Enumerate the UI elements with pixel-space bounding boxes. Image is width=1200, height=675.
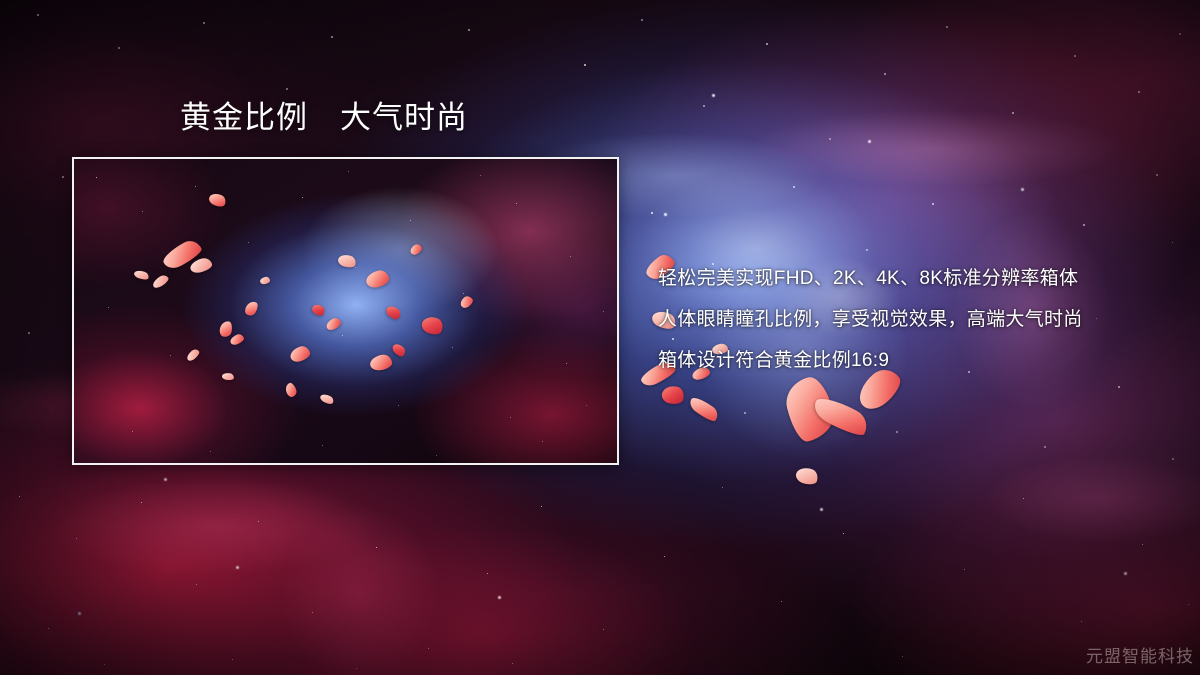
- petal: [409, 243, 424, 257]
- petal: [325, 316, 343, 332]
- petal: [310, 302, 326, 318]
- petal: [259, 276, 270, 285]
- petal: [133, 269, 150, 281]
- petal: [391, 341, 408, 358]
- petal: [337, 253, 358, 269]
- starfield-fine: [0, 0, 1, 1]
- body-text: 轻松完美实现FHD、2K、4K、8K标准分辨率箱体 人体眼睛瞳孔比例，享受视觉效…: [658, 258, 1178, 381]
- petal: [369, 354, 393, 372]
- watermark: 元盟智能科技: [1086, 642, 1194, 667]
- petal: [420, 314, 446, 338]
- petal: [288, 344, 311, 363]
- picture-image: [74, 159, 617, 463]
- petal: [458, 294, 474, 310]
- petal: [384, 303, 403, 321]
- petal: [229, 333, 245, 347]
- petal: [687, 394, 721, 424]
- petal: [218, 320, 233, 338]
- petal: [243, 299, 260, 317]
- picture-frame: [72, 157, 619, 465]
- petal: [189, 257, 213, 275]
- petal: [207, 191, 227, 209]
- petal: [185, 347, 201, 362]
- starfield-small: [0, 0, 2, 2]
- starfield-bright: [0, 0, 3, 3]
- petal: [151, 273, 170, 290]
- petal: [660, 384, 685, 406]
- petal: [319, 392, 335, 405]
- body-line-1: 轻松完美实现FHD、2K、4K、8K标准分辨率箱体: [658, 258, 1178, 299]
- petal: [284, 382, 298, 399]
- body-line-2: 人体眼睛瞳孔比例，享受视觉效果，高端大气时尚: [658, 299, 1178, 340]
- petal: [222, 372, 235, 381]
- page-title: 黄金比例 大气时尚: [180, 102, 468, 133]
- petal: [365, 269, 391, 289]
- petal: [794, 465, 820, 487]
- picture-starfield: [74, 159, 75, 160]
- body-line-3: 箱体设计符合黄金比例16:9: [658, 340, 1178, 381]
- presentation-slide: 黄金比例 大气时尚: [0, 0, 1200, 675]
